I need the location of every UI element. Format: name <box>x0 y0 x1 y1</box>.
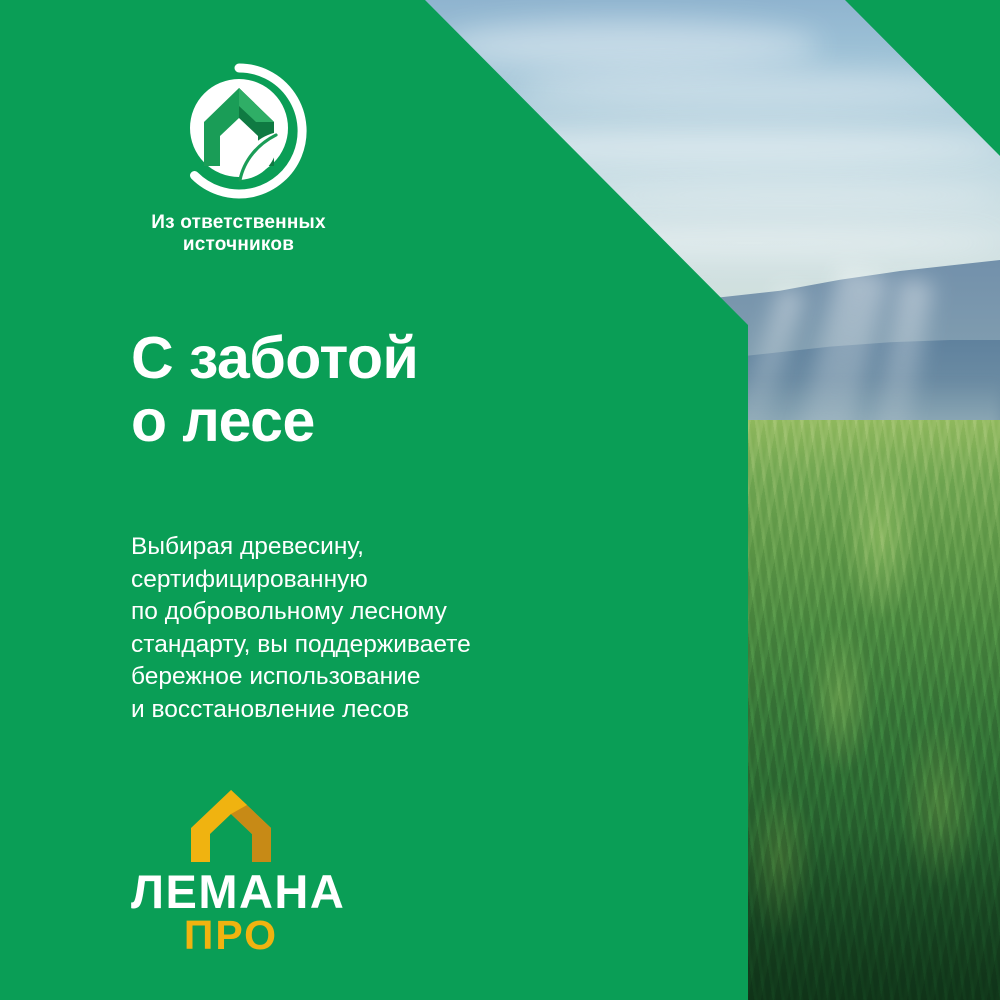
responsible-sources-badge: Из ответственных источников <box>131 62 346 257</box>
body-copy: Выбирая древесину, сертифицированную по … <box>131 531 471 726</box>
brand-subtitle: ПРО <box>131 916 331 955</box>
brand-name: ЛЕМАНА <box>131 869 331 914</box>
brand-lockup: ЛЕМАНА ПРО <box>131 788 331 955</box>
poster-content: Из ответственных источников С заботой о … <box>0 0 1000 1000</box>
responsible-sources-emblem-icon <box>170 62 308 200</box>
badge-caption: Из ответственных источников <box>131 212 346 257</box>
headline: С заботой о лесе <box>131 327 418 452</box>
poster-canvas: Из ответственных источников С заботой о … <box>0 0 1000 1000</box>
house-roof-icon <box>189 788 273 864</box>
